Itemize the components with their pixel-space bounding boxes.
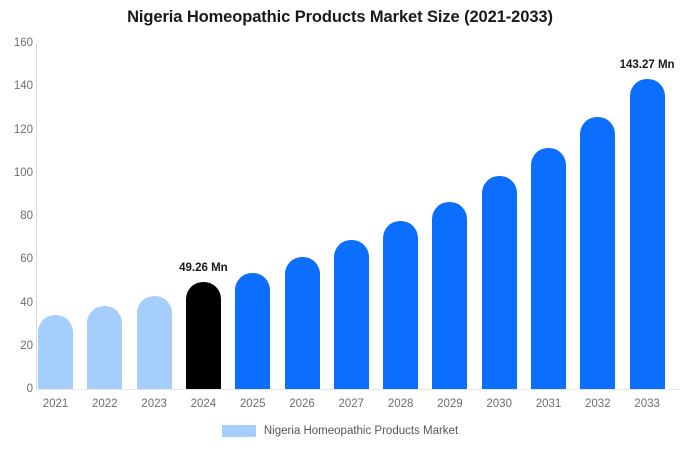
- x-axis-tick-2022: 2022: [87, 398, 122, 410]
- x-axis-tick-2033: 2033: [630, 398, 665, 410]
- bar-2031[interactable]: [531, 148, 566, 389]
- chart-container: Nigeria Homeopathic Products Market Size…: [0, 0, 680, 450]
- legend-label: Nigeria Homeopathic Products Market: [264, 425, 458, 437]
- bar-2024[interactable]: [186, 282, 221, 389]
- bar-2026[interactable]: [285, 257, 320, 389]
- legend-swatch: [222, 425, 256, 437]
- bar-2022[interactable]: [87, 306, 122, 389]
- x-axis-tick-2026: 2026: [285, 398, 320, 410]
- x-axis-tick-2032: 2032: [580, 398, 615, 410]
- bar-2021[interactable]: [38, 315, 73, 389]
- bar-value-label-2033: 143.27 Mn: [587, 59, 680, 71]
- bar-2032[interactable]: [580, 117, 615, 389]
- x-axis-tick-2021: 2021: [38, 398, 73, 410]
- bar-2029[interactable]: [432, 202, 467, 389]
- bar-2033[interactable]: [630, 79, 665, 389]
- x-axis-tick-2025: 2025: [235, 398, 270, 410]
- bar-2030[interactable]: [482, 176, 517, 389]
- x-axis-tick-2029: 2029: [432, 398, 467, 410]
- x-axis-tick-2024: 2024: [186, 398, 221, 410]
- bar-2027[interactable]: [334, 240, 369, 389]
- bars-layer: 202120222023202449.26 Mn2025202620272028…: [0, 0, 680, 450]
- bar-value-label-2024: 49.26 Mn: [143, 262, 263, 274]
- chart-legend: Nigeria Homeopathic Products Market: [0, 425, 680, 437]
- x-axis-tick-2028: 2028: [383, 398, 418, 410]
- x-axis-tick-2027: 2027: [334, 398, 369, 410]
- x-axis-tick-2023: 2023: [137, 398, 172, 410]
- bar-2023[interactable]: [137, 296, 172, 389]
- x-axis-tick-2030: 2030: [482, 398, 517, 410]
- bar-2028[interactable]: [383, 221, 418, 389]
- x-axis-tick-2031: 2031: [531, 398, 566, 410]
- bar-2025[interactable]: [235, 273, 270, 389]
